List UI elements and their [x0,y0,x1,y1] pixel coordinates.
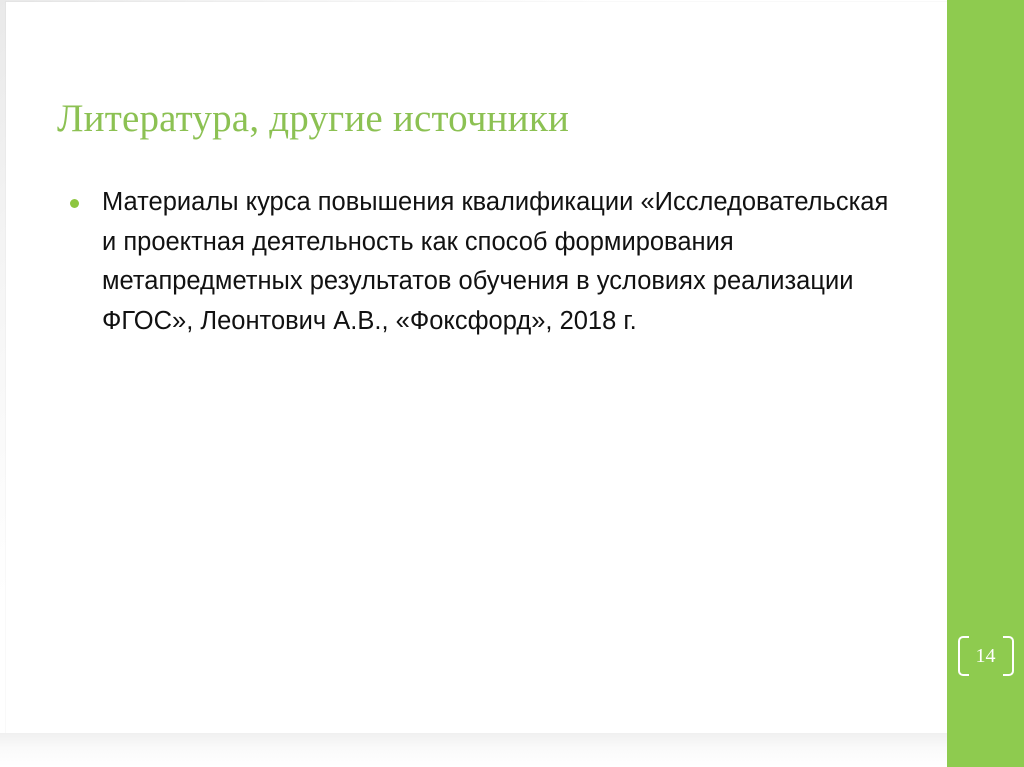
slide-bottom-edge [0,733,947,767]
bracket-left-icon [958,636,969,676]
page-number-badge: 14 [947,628,1024,684]
bracket-right-icon [1003,636,1014,676]
bullet-list: Материалы курса повышения квалификации «… [62,183,902,341]
list-item: Материалы курса повышения квалификации «… [62,183,902,341]
slide: Литература, другие источники Материалы к… [0,0,1024,767]
page-number-value: 14 [969,646,1003,666]
dot-bullet-icon [70,199,79,208]
page-title: Литература, другие источники [57,96,877,142]
list-item-text: Материалы курса повышения квалификации «… [102,183,902,341]
